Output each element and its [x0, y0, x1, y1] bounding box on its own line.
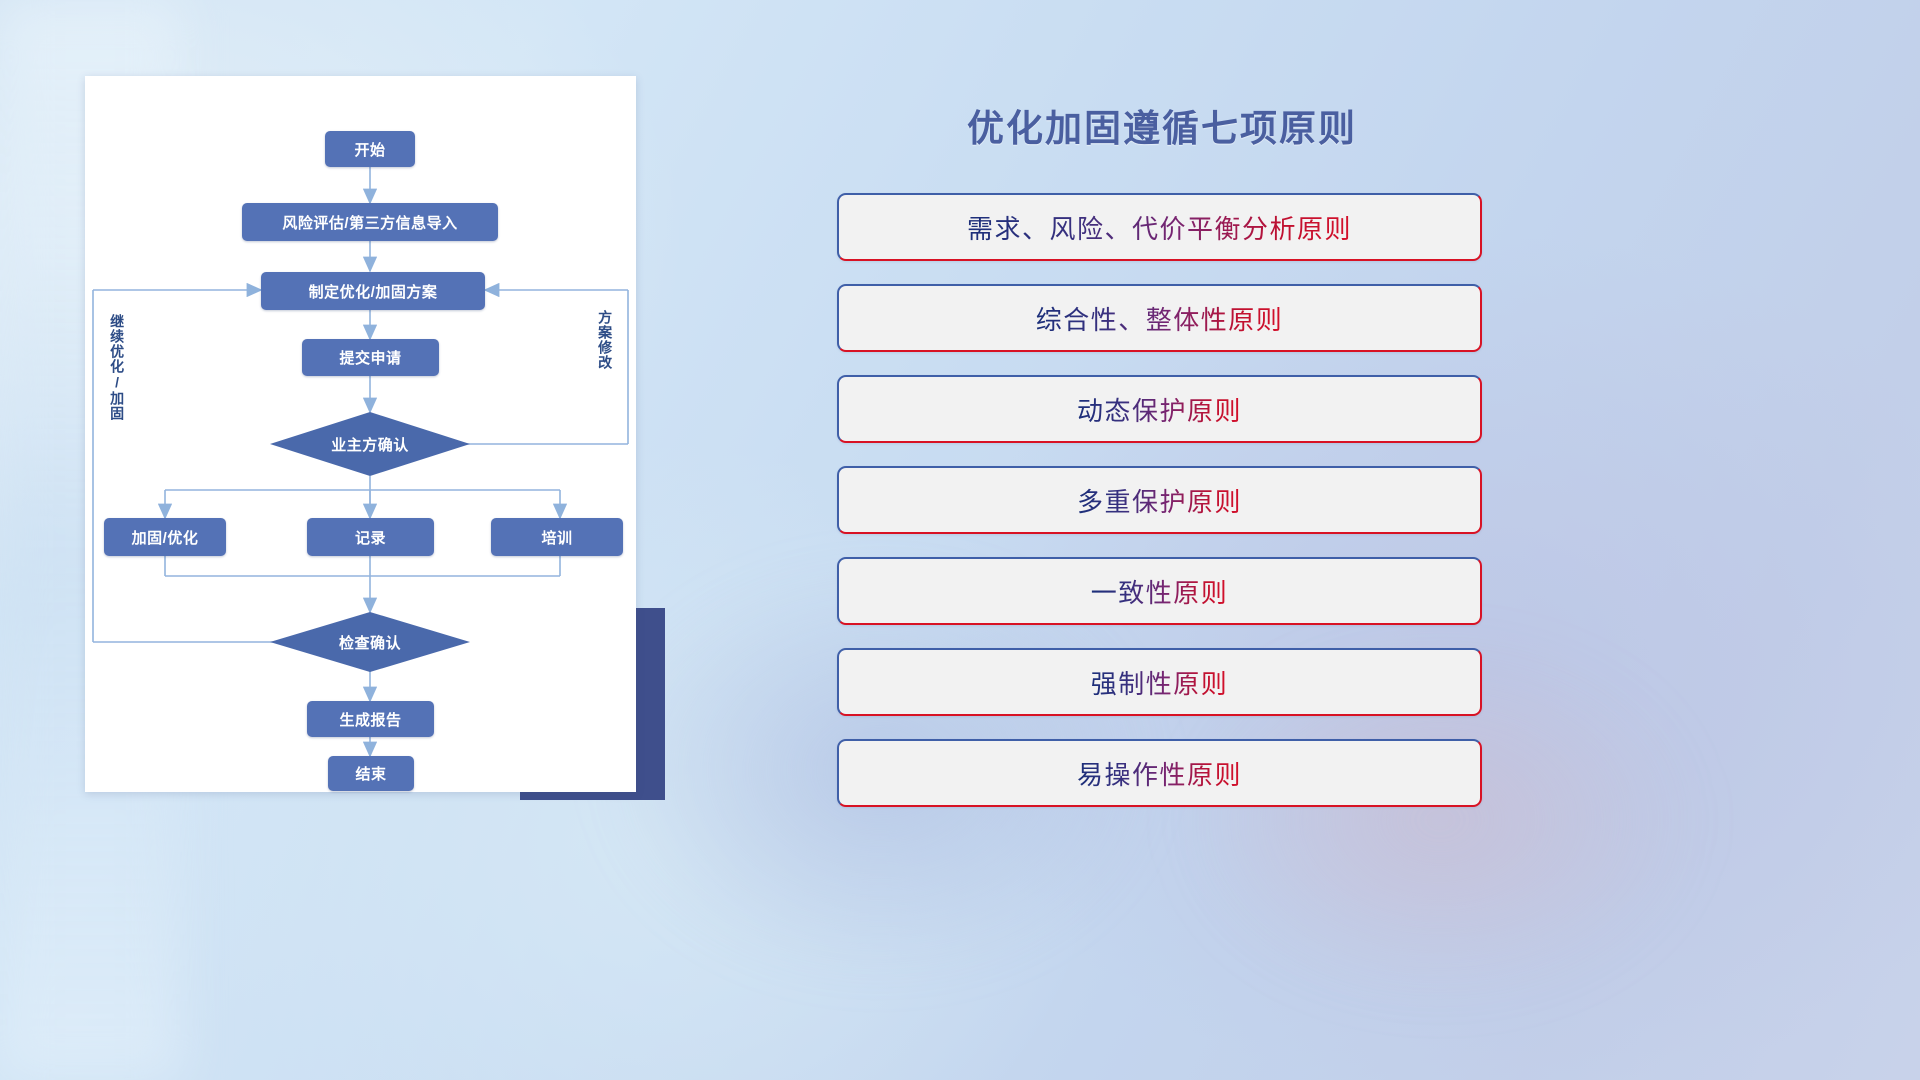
flowchart-inner: 开始 风险评估/第三方信息导入 制定优化/加固方案 提交申请 业主方确认 加固/…	[85, 76, 636, 792]
principle-card-5[interactable]: 一致性原则	[837, 557, 1482, 625]
principle-card-4[interactable]: 多重保护原则	[837, 466, 1482, 534]
flow-node-end[interactable]: 结束	[328, 756, 414, 791]
principle-card-4-label: 多重保护原则	[1077, 482, 1242, 519]
principle-card-3-label: 动态保护原则	[1077, 391, 1242, 428]
principle-card-2[interactable]: 综合性、整体性原则	[837, 284, 1482, 352]
flow-node-start[interactable]: 开始	[325, 131, 415, 167]
flow-node-reinforce-label: 加固/优化	[132, 527, 199, 548]
flow-decision-owner-confirm[interactable]: 业主方确认	[270, 412, 470, 476]
flow-node-report-label: 生成报告	[339, 709, 401, 730]
principle-card-2-label: 综合性、整体性原则	[1036, 300, 1284, 337]
principles-title: 优化加固遵循七项原则	[832, 98, 1492, 152]
flow-side-label-plan-revision: 方案修改	[597, 310, 612, 420]
principle-card-1-label: 需求、风险、代价平衡分析原则	[967, 209, 1352, 246]
flow-node-risk-assessment[interactable]: 风险评估/第三方信息导入	[242, 203, 498, 241]
flow-node-plan[interactable]: 制定优化/加固方案	[261, 272, 485, 310]
flow-node-submit[interactable]: 提交申请	[302, 339, 439, 376]
principle-card-7[interactable]: 易操作性原则	[837, 739, 1482, 807]
flow-node-plan-label: 制定优化/加固方案	[309, 281, 438, 302]
principle-card-1[interactable]: 需求、风险、代价平衡分析原则	[837, 193, 1482, 261]
flow-decision-check-confirm[interactable]: 检查确认	[270, 612, 470, 672]
flow-side-label-continue-optimize: 继续优化/加固	[109, 314, 124, 454]
flowchart-card: 开始 风险评估/第三方信息导入 制定优化/加固方案 提交申请 业主方确认 加固/…	[85, 76, 636, 792]
principle-card-6[interactable]: 强制性原则	[837, 648, 1482, 716]
flow-node-risk-assessment-label: 风险评估/第三方信息导入	[282, 212, 457, 233]
flow-node-reinforce[interactable]: 加固/优化	[104, 518, 226, 556]
flow-node-record[interactable]: 记录	[307, 518, 434, 556]
flow-node-training[interactable]: 培训	[491, 518, 623, 556]
flow-node-training-label: 培训	[541, 527, 572, 548]
flow-node-start-label: 开始	[354, 139, 385, 160]
principles-card-list: 需求、风险、代价平衡分析原则 综合性、整体性原则 动态保护原则 多重保护原则 一…	[837, 193, 1482, 830]
principle-card-5-label: 一致性原则	[1091, 573, 1229, 610]
principle-card-6-label: 强制性原则	[1091, 664, 1229, 701]
principle-card-3[interactable]: 动态保护原则	[837, 375, 1482, 443]
flow-node-record-label: 记录	[355, 527, 386, 548]
flow-node-end-label: 结束	[355, 763, 386, 784]
principles-panel: 优化加固遵循七项原则 需求、风险、代价平衡分析原则 综合性、整体性原则 动态保护…	[832, 80, 1492, 820]
flow-node-report[interactable]: 生成报告	[307, 701, 434, 737]
principle-card-7-label: 易操作性原则	[1077, 755, 1242, 792]
flow-node-submit-label: 提交申请	[339, 347, 401, 368]
